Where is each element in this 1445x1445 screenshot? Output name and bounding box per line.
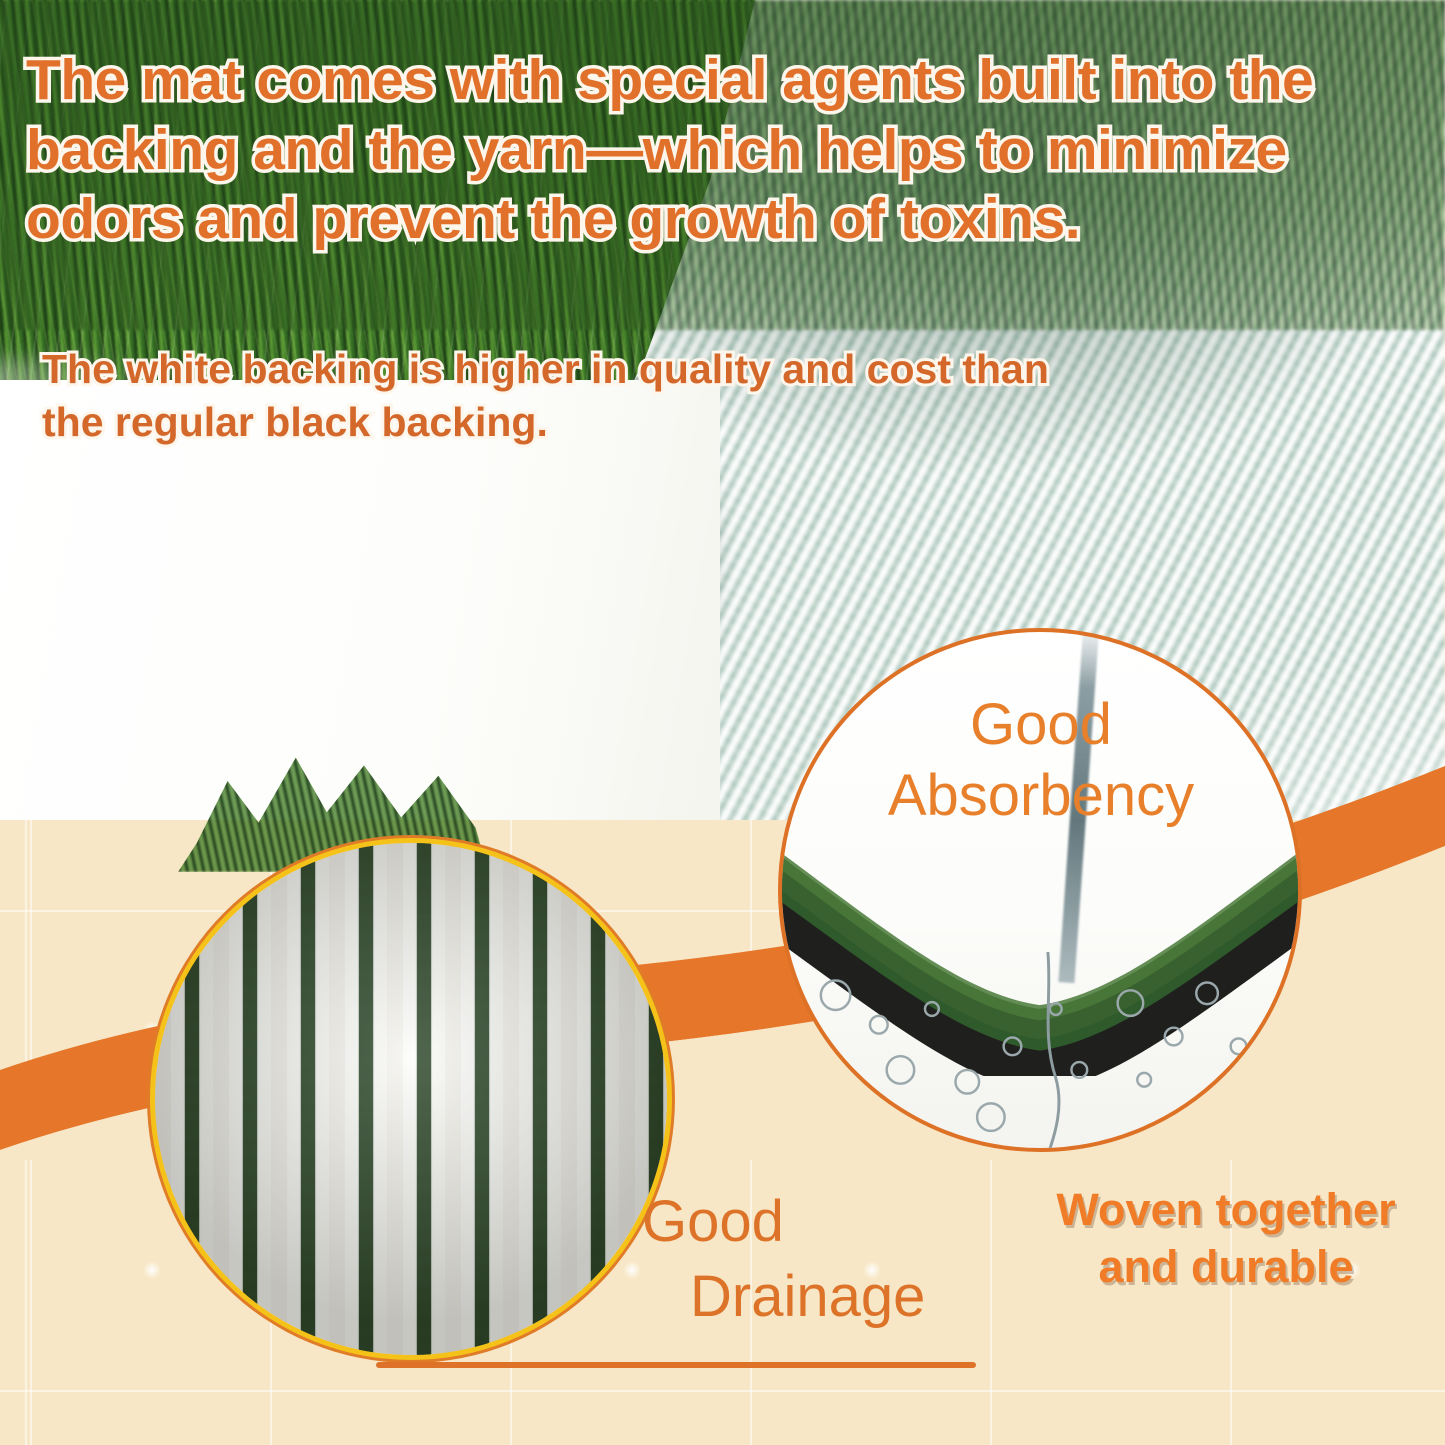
- woven-line-2: and durable: [1016, 1239, 1436, 1296]
- product-infographic: The mat comes with special agents built …: [0, 0, 1445, 1445]
- headline-line-1: The mat comes with special agents built …: [26, 46, 1426, 116]
- headline: The mat comes with special agents built …: [26, 46, 1426, 255]
- headline-line-3: odors and prevent the growth of toxins.: [26, 185, 1426, 255]
- drainage-line-2: Drainage: [642, 1259, 1042, 1334]
- good-drainage-label: Good Drainage: [642, 1184, 1042, 1335]
- headline-line-2: backing and the yarn—which helps to mini…: [26, 116, 1426, 186]
- absorbency-line-2: Absorbency: [826, 761, 1256, 832]
- subheadline: The white backing is higher in quality a…: [42, 343, 1302, 450]
- good-drainage-circle[interactable]: [150, 838, 672, 1360]
- subheadline-line-1: The white backing is higher in quality a…: [42, 343, 1302, 396]
- absorbency-line-1: Good: [826, 690, 1256, 761]
- water-bubbles: [782, 952, 1298, 1152]
- drainage-line-1: Good: [642, 1184, 1042, 1259]
- woven-together-label: Woven together and durable: [1016, 1182, 1436, 1295]
- drainage-underline: [376, 1362, 976, 1368]
- drainage-shading: [155, 843, 667, 1355]
- subheadline-line-2: the regular black backing.: [42, 396, 1302, 449]
- woven-line-1: Woven together: [1016, 1182, 1436, 1239]
- good-absorbency-label: Good Absorbency: [826, 690, 1256, 832]
